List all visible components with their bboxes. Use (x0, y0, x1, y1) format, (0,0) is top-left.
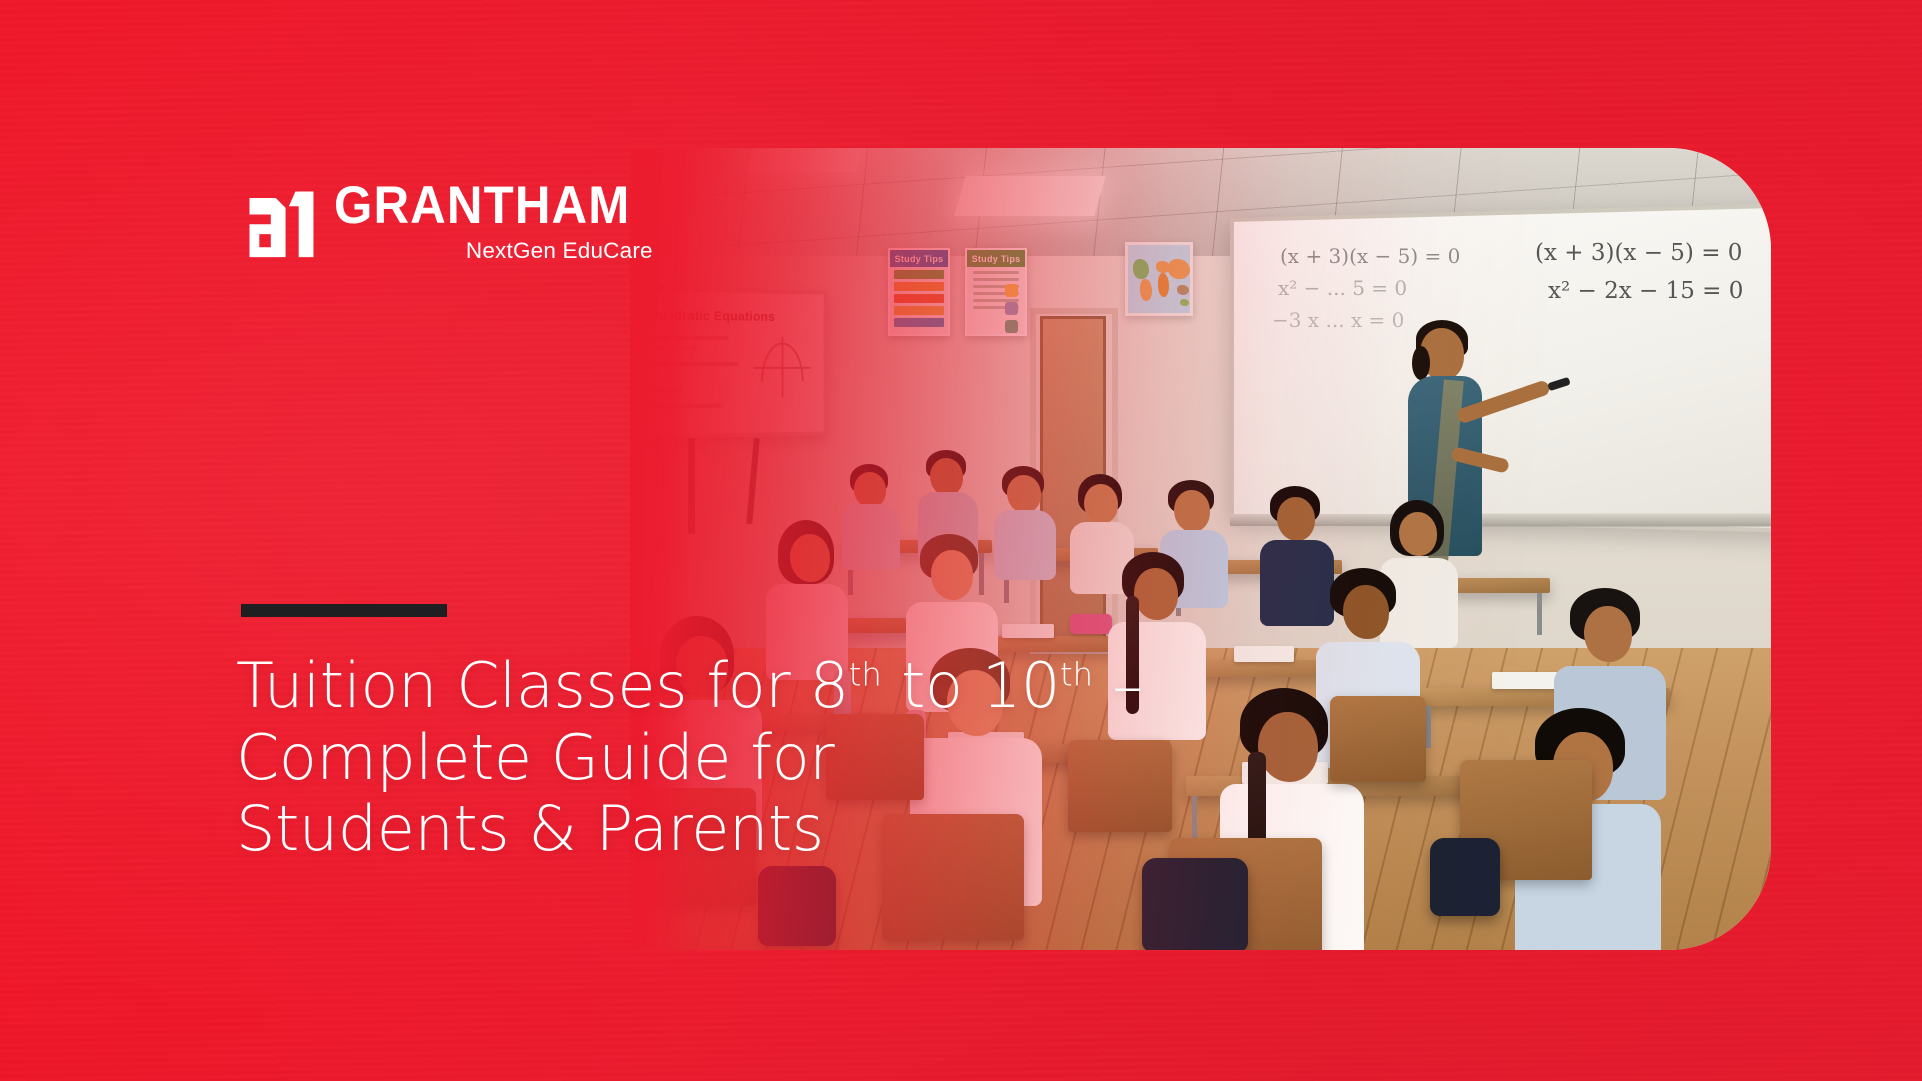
a1-logo-icon (238, 180, 320, 262)
headline-dash: – (1093, 649, 1143, 722)
headline-ordinal-10th: th (1060, 655, 1093, 693)
brand-tagline: NextGen EduCare (334, 238, 653, 264)
headline-ordinal-8th: th (849, 655, 882, 693)
logo-wordmark: GRANTHAM NextGen EduCare (334, 180, 653, 264)
headline-line3: Students & Parents (236, 792, 824, 865)
headline-line2: Complete Guide for (236, 721, 834, 794)
headline-line1-mid: to 10 (882, 649, 1060, 722)
page-title: Tuition Classes for 8th to 10th –Complet… (236, 650, 1216, 865)
headline-rule (241, 604, 447, 617)
brand-logo[interactable]: GRANTHAM NextGen EduCare (238, 180, 653, 264)
headline-line1-pre: Tuition Classes for 8 (236, 649, 849, 722)
brand-name: GRANTHAM (334, 182, 630, 231)
